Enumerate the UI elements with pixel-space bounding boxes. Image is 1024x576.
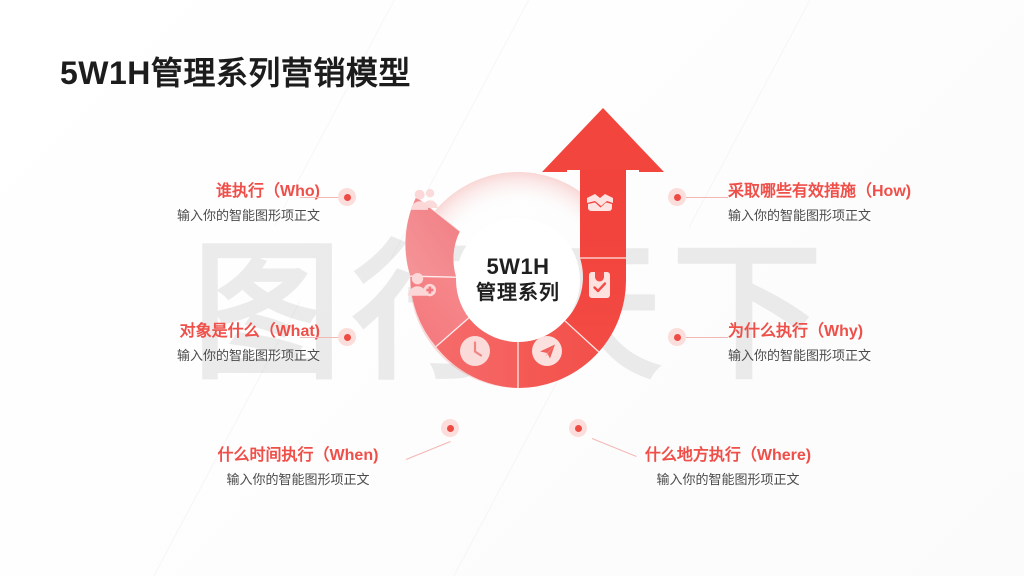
callout-what-subtitle: 输入你的智能图形项正文 bbox=[40, 346, 320, 366]
center-disc bbox=[456, 218, 580, 342]
connector-why bbox=[686, 337, 728, 338]
callout-why-subtitle: 输入你的智能图形项正文 bbox=[728, 346, 1008, 366]
users-icon bbox=[411, 189, 438, 210]
callout-where[interactable]: 什么地方执行（Where) 输入你的智能图形项正文 bbox=[598, 446, 858, 490]
connector-dot-how bbox=[668, 188, 686, 206]
callout-when-title: 什么时间执行（When) bbox=[168, 446, 428, 466]
callout-why-title: 为什么执行（Why) bbox=[728, 322, 1008, 342]
connector-who bbox=[300, 197, 342, 198]
horseshoe-arrow-diagram: 5W1H 管理系列 bbox=[368, 130, 668, 430]
connector-what bbox=[300, 337, 342, 338]
slide-canvas: 图行天下 5W1H管理系列营销模型 bbox=[0, 0, 1024, 576]
connector-dot-who bbox=[338, 188, 356, 206]
callout-who-subtitle: 输入你的智能图形项正文 bbox=[60, 206, 320, 226]
arrow-head bbox=[542, 108, 664, 172]
callout-where-subtitle: 输入你的智能图形项正文 bbox=[598, 470, 858, 490]
connector-dot-what bbox=[338, 328, 356, 346]
callout-where-title: 什么地方执行（Where) bbox=[598, 446, 858, 466]
callout-why[interactable]: 为什么执行（Why) 输入你的智能图形项正文 bbox=[728, 322, 1008, 366]
callout-how-title: 采取哪些有效措施（How) bbox=[728, 182, 1024, 202]
callout-who-title: 谁执行（Who) bbox=[60, 182, 320, 202]
connector-dot-where bbox=[569, 419, 587, 437]
connector-dot-when bbox=[441, 419, 459, 437]
callout-how[interactable]: 采取哪些有效措施（How) 输入你的智能图形项正文 bbox=[728, 182, 1024, 226]
callout-when-subtitle: 输入你的智能图形项正文 bbox=[168, 470, 428, 490]
callout-what-title: 对象是什么（What) bbox=[40, 322, 320, 342]
callout-who[interactable]: 谁执行（Who) 输入你的智能图形项正文 bbox=[60, 182, 320, 226]
callout-what[interactable]: 对象是什么（What) 输入你的智能图形项正文 bbox=[40, 322, 320, 366]
callout-how-subtitle: 输入你的智能图形项正文 bbox=[728, 206, 1024, 226]
clock-icon bbox=[460, 336, 490, 366]
connector-dot-why bbox=[668, 328, 686, 346]
page-title: 5W1H管理系列营销模型 bbox=[60, 48, 411, 94]
connector-how bbox=[686, 197, 728, 198]
clipboard-check-icon bbox=[589, 272, 610, 298]
paper-plane-icon bbox=[532, 336, 562, 366]
callout-when[interactable]: 什么时间执行（When) 输入你的智能图形项正文 bbox=[168, 446, 428, 490]
